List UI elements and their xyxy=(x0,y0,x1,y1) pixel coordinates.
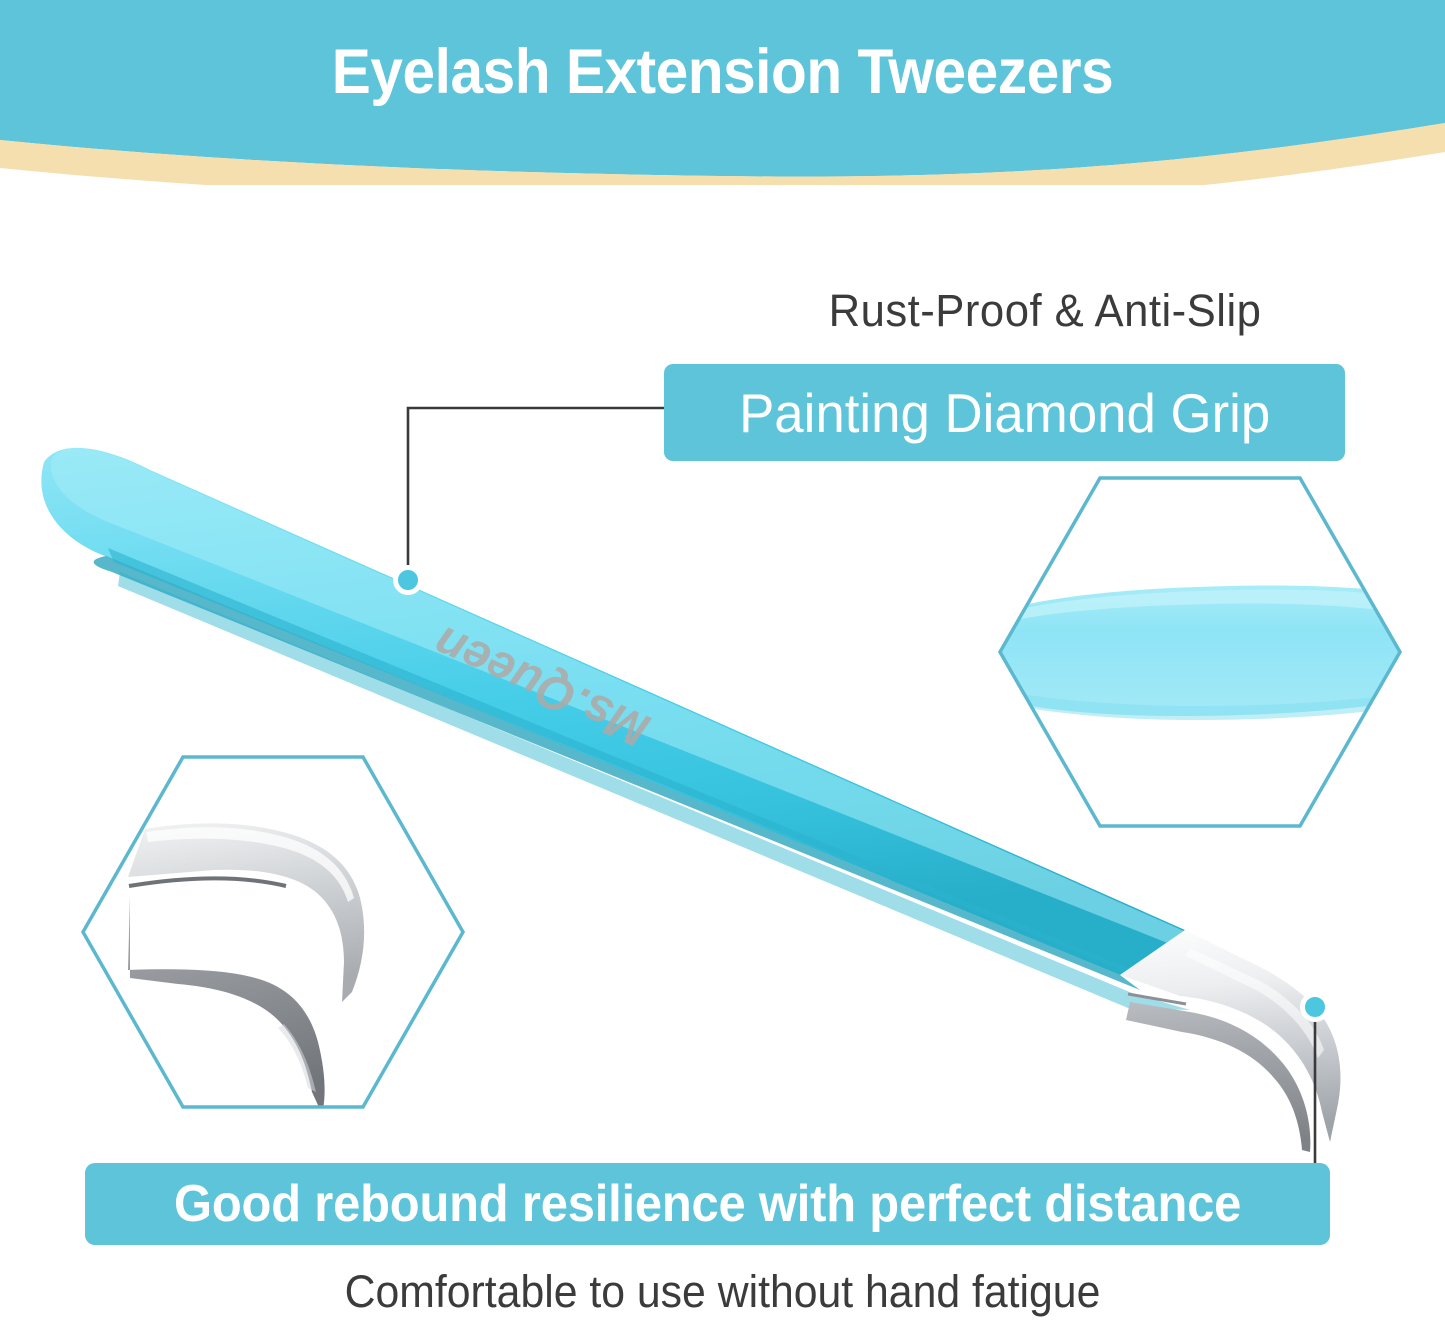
tweezer-handle xyxy=(41,448,1186,990)
infographic-canvas: Eyelash Extension Tweezers xyxy=(0,0,1445,1329)
rebound-resilience-label: Good rebound resilience with perfect dis… xyxy=(174,1174,1241,1234)
grip-callout-marker xyxy=(393,565,423,595)
painting-diamond-grip-badge: Painting Diamond Grip xyxy=(664,364,1345,461)
rust-proof-subheading: Rust-Proof & Anti-Slip xyxy=(744,285,1345,337)
brand-logo-text: Ms.Queen xyxy=(426,615,657,757)
tweezer-steel-lower-arm xyxy=(1126,1002,1310,1152)
header-band: Eyelash Extension Tweezers xyxy=(0,0,1445,185)
hexagon-outline xyxy=(83,757,463,1107)
handle-finish-hexagon xyxy=(995,478,1412,826)
tweezer-tip-hexagon xyxy=(83,757,463,1114)
page-title: Eyelash Extension Tweezers xyxy=(51,36,1395,108)
tweezer-arm-gap xyxy=(1128,994,1186,1004)
hexagon-outline xyxy=(1000,478,1400,826)
comfort-footnote: Comfortable to use without hand fatigue xyxy=(36,1266,1409,1318)
grip-callout-line xyxy=(408,408,664,578)
tweezer-lower-arm xyxy=(105,496,1330,1140)
painting-diamond-grip-label: Painting Diamond Grip xyxy=(739,381,1270,445)
rebound-resilience-banner: Good rebound resilience with perfect dis… xyxy=(85,1163,1330,1245)
tweezer-handle-second-arm xyxy=(118,572,1190,1010)
brand-logo: Ms.Queen xyxy=(426,615,657,757)
product-illustration: Ms.Queen xyxy=(0,0,1445,1329)
tweezer-steel-upper-arm xyxy=(1120,930,1340,1142)
tip-callout-marker xyxy=(1300,992,1330,1022)
